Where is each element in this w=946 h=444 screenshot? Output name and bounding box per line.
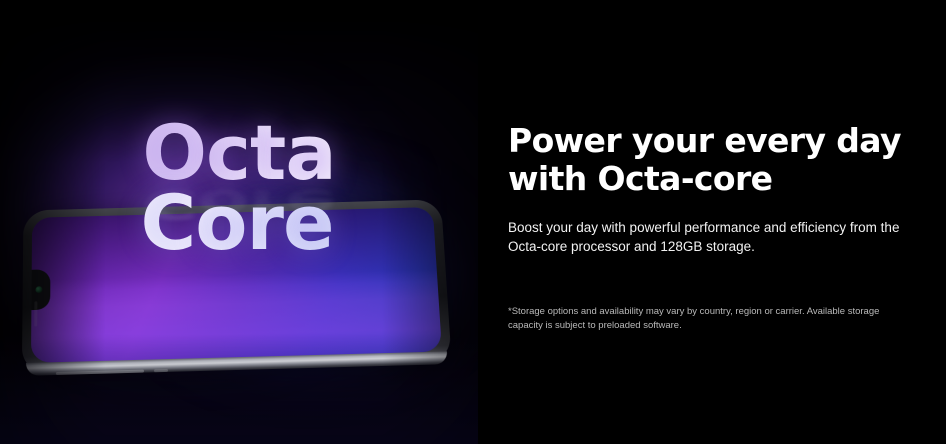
image-top-vignette bbox=[0, 22, 478, 162]
headline-line-2: with Octa-core bbox=[508, 160, 908, 198]
image-bottom-vignette bbox=[0, 334, 478, 444]
headline-line-1: Power your every day bbox=[508, 122, 908, 160]
promo-banner: Core Octa Core bbox=[0, 0, 946, 444]
disclaimer-text: *Storage options and availability may va… bbox=[508, 305, 910, 334]
product-image-panel: Core Octa Core bbox=[0, 22, 478, 444]
page-title: Power your every day with Octa-core bbox=[508, 122, 908, 199]
subcopy-text: Boost your day with powerful performance… bbox=[508, 218, 906, 256]
copy-panel: Power your every day with Octa-core Boos… bbox=[508, 0, 928, 444]
